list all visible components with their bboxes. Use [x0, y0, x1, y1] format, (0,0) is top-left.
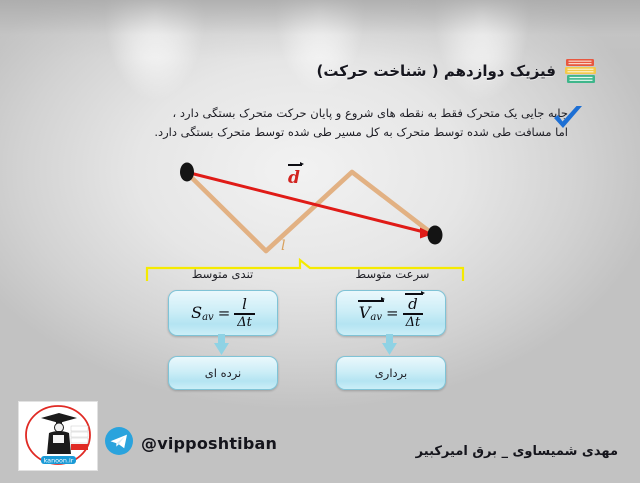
result-box-scalar[interactable]: نرده ای	[168, 356, 278, 390]
formula-box-average-velocity[interactable]: Vav = d Δt	[336, 290, 446, 336]
formula-velocity-variable: Vav	[359, 303, 382, 323]
result-label-scalar: نرده ای	[205, 366, 242, 380]
result-label-vector: برداری	[375, 366, 407, 380]
body-line-1: جابه جایی یک متحرک فقط به نقطه های شروع …	[148, 104, 568, 123]
start-point	[180, 163, 194, 182]
telegram-contact[interactable]: @vipposhtiban	[104, 426, 277, 460]
result-box-vector[interactable]: برداری	[336, 356, 446, 390]
connector-arrow-velocity	[382, 334, 397, 355]
formula-velocity-subscript: av	[370, 312, 382, 323]
page-title: فیزیک دوازدهم ( شناخت حرکت)	[317, 62, 556, 80]
formula-velocity-equals: =	[386, 304, 399, 322]
travelled-path	[186, 172, 434, 251]
displacement-arrowhead	[420, 228, 433, 239]
path-length-label: l	[281, 238, 285, 254]
body-line-2: اما مسافت طی شده توسط متحرک به کل مسیر ط…	[148, 123, 568, 142]
kanoon-logo-text: kanoon.ir	[44, 456, 74, 464]
branch-label-average-speed: تندی متوسط	[165, 267, 280, 281]
displacement-label: d	[288, 168, 300, 188]
ceiling-light-glow	[0, 0, 640, 58]
formula-speed-denominator: Δt	[234, 315, 255, 329]
formula-box-average-speed[interactable]: Sav = l Δt	[168, 290, 278, 336]
telegram-icon	[104, 426, 134, 460]
formula-average-speed: Sav = l Δt	[191, 297, 255, 328]
formula-speed-equals: =	[218, 304, 231, 322]
kanoon-logo-graphic: kanoon.ir	[19, 402, 97, 470]
displacement-label-text: d	[288, 168, 300, 188]
formula-speed-fraction: l Δt	[234, 297, 255, 328]
telegram-handle: @vipposhtiban	[141, 434, 277, 453]
branch-label-average-velocity: سرعت متوسط	[330, 267, 455, 281]
end-point	[428, 226, 443, 245]
formula-average-velocity: Vav = d Δt	[359, 297, 423, 328]
slide-title-row: فیزیک دوازدهم ( شناخت حرکت)	[317, 55, 598, 87]
formula-velocity-denominator: Δt	[403, 315, 424, 329]
formula-velocity-fraction: d Δt	[403, 297, 424, 328]
formula-speed-subscript: av	[202, 312, 214, 323]
connector-arrow-speed	[214, 334, 229, 355]
slide-canvas: فیزیک دوازدهم ( شناخت حرکت) جابه جایی یک…	[0, 0, 640, 483]
body-paragraph: جابه جایی یک متحرک فقط به نقطه های شروع …	[148, 104, 568, 142]
books-icon	[564, 55, 598, 87]
formula-speed-variable: Sav	[191, 303, 214, 323]
kanoon-logo[interactable]: kanoon.ir	[18, 401, 98, 471]
displacement-vector-line	[190, 173, 424, 232]
formula-speed-numerator: l	[239, 297, 250, 313]
formula-velocity-numerator: d	[405, 297, 421, 313]
author-credit: مهدی شمیساوی _ برق امیرکبیر	[416, 444, 618, 459]
